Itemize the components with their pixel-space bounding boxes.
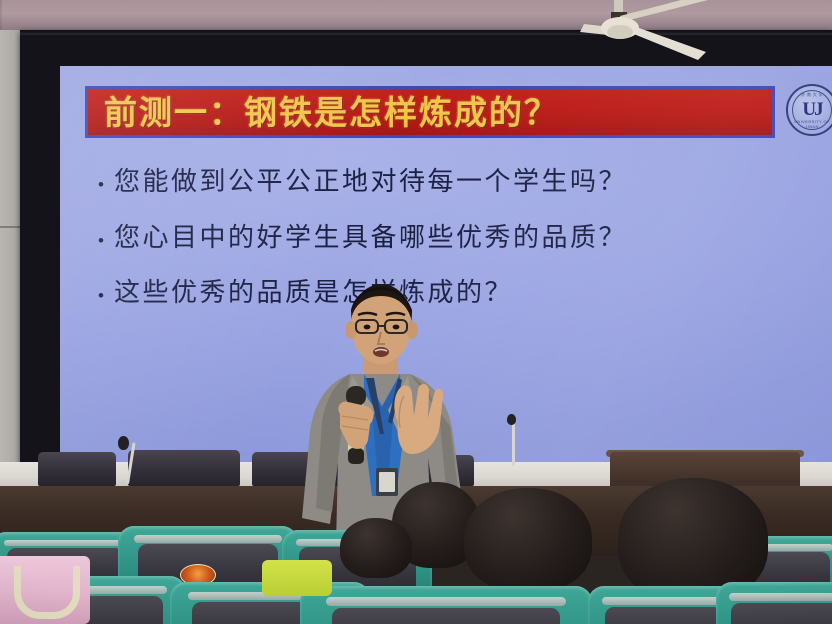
audience-head: [464, 488, 592, 592]
list-item: • 您心目中的好学生具备哪些优秀的品质？: [98, 224, 798, 253]
emblem-arc-top: 济 南 大 学: [788, 92, 832, 98]
seat-bar: [326, 597, 565, 606]
seat-bar: [4, 540, 127, 546]
front-desk-chair: [38, 452, 116, 486]
bullet-dot-icon: •: [98, 287, 114, 304]
ceiling: [0, 0, 832, 34]
seat-bar: [134, 535, 282, 543]
seat-bar: [602, 597, 725, 606]
bullet-text: 您心目中的好学生具备哪些优秀的品质？: [114, 224, 627, 253]
seat: [300, 586, 592, 624]
bullet-dot-icon: •: [98, 232, 114, 249]
pink-bag-handle: [14, 566, 80, 619]
slide-title: 前测一：钢铁是怎样炼成的？: [104, 96, 559, 129]
bullet-text: 您能做到公平公正地对待每一个学生吗？: [114, 168, 627, 197]
seat-bar: [729, 593, 832, 602]
emblem-monogram: UJ: [802, 99, 821, 121]
audience-head: [340, 518, 412, 578]
university-emblem-icon: 济 南 大 学 UJ UNIVERSITY OF JINAN: [786, 84, 832, 136]
green-object: [262, 560, 332, 596]
seat: [716, 582, 832, 624]
slide-title-banner: 前测一：钢铁是怎样炼成的？: [85, 86, 775, 138]
seat-panel: [605, 607, 722, 624]
list-item: • 您能做到公平公正地对待每一个学生吗？: [98, 168, 798, 197]
bullet-dot-icon: •: [98, 176, 114, 193]
ceiling-texture: [0, 0, 832, 34]
seat-panel: [731, 603, 832, 624]
seat-panel: [332, 608, 560, 624]
audience-seating: [0, 500, 832, 624]
lecture-hall-screenshot: 前测一：钢铁是怎样炼成的？ 济 南 大 学 UJ UNIVERSITY OF J…: [0, 0, 832, 624]
front-desk-chair: [128, 450, 240, 486]
